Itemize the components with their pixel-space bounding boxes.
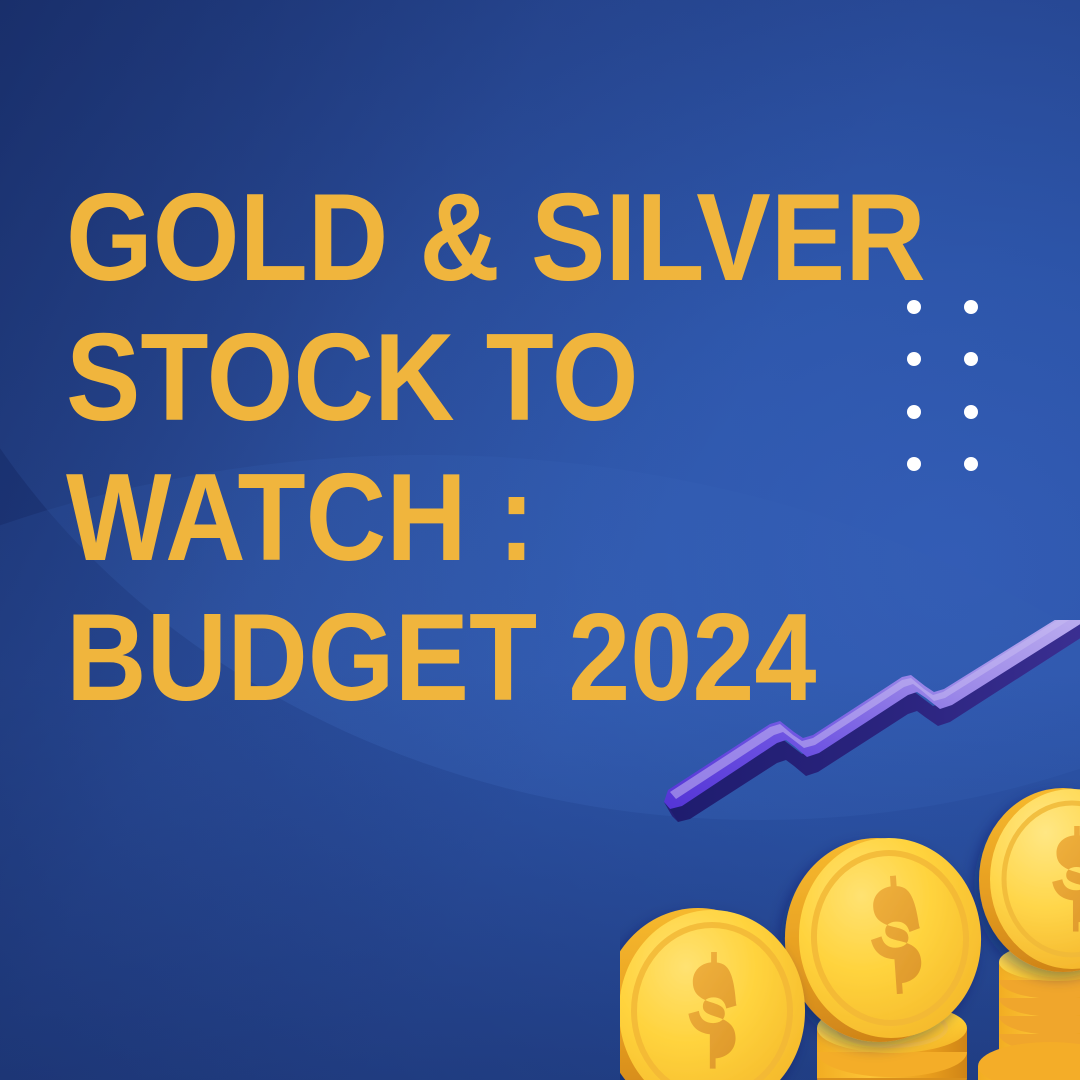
headline-line-3: WATCH :	[66, 448, 696, 588]
headline-line-4: BUDGET 2024	[66, 588, 696, 728]
dot-icon	[907, 457, 921, 471]
standing-coin-left	[620, 908, 805, 1080]
dot-icon	[907, 405, 921, 419]
dot-icon	[907, 300, 921, 314]
dot-icon	[964, 300, 978, 314]
standing-coin-right	[979, 788, 1080, 972]
dot-icon	[964, 352, 978, 366]
coin-stack-front-right	[978, 1042, 1080, 1080]
headline-title: GOLD & SILVER STOCK TO WATCH : BUDGET 20…	[66, 168, 766, 728]
dot-icon	[964, 405, 978, 419]
headline-line-2: STOCK TO	[66, 308, 696, 448]
dot-grid	[907, 300, 981, 472]
poster-canvas: GOLD & SILVER STOCK TO WATCH : BUDGET 20…	[0, 0, 1080, 1080]
dot-icon	[964, 457, 978, 471]
headline-line-1: GOLD & SILVER	[66, 168, 696, 308]
gold-dollar-coins	[620, 788, 1080, 1080]
dot-icon	[907, 352, 921, 366]
